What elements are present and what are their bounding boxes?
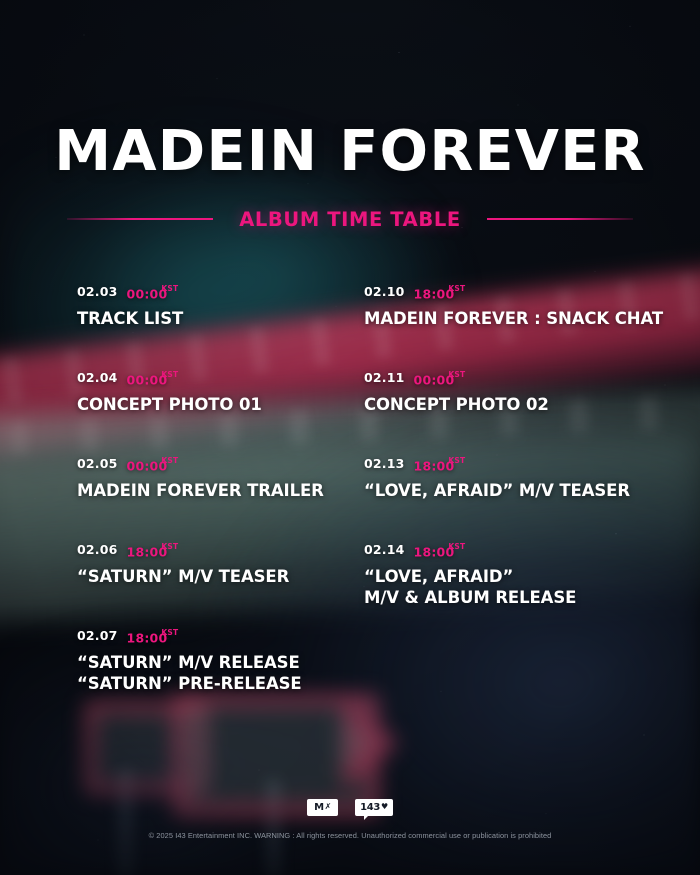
schedule-entry-title: “SATURN” M/V RELEASE xyxy=(77,653,377,673)
schedule-entry-time-group: 18:00KST xyxy=(127,630,179,646)
schedule-entry-time-group: 00:00KST xyxy=(127,458,179,474)
schedule-entry-meta: 02.0500:00KST xyxy=(77,458,377,474)
schedule-entry-timezone: KST xyxy=(161,542,178,551)
schedule-entry-meta: 02.1318:00KST xyxy=(364,458,664,474)
schedule-entry-date: 02.05 xyxy=(77,458,118,471)
schedule-entry-meta: 02.1418:00KST xyxy=(364,544,664,560)
schedule-entry: 02.1018:00KSTMADEIN FOREVER : SNACK CHAT xyxy=(364,286,664,330)
copyright-notice: © 2025 I43 Entertainment INC. WARNING : … xyxy=(0,831,700,840)
schedule-entry-timezone: KST xyxy=(161,628,178,637)
schedule-entry-meta: 02.1018:00KST xyxy=(364,286,664,302)
schedule-entry-date: 02.07 xyxy=(77,630,118,643)
143-logo: 143♥ xyxy=(355,799,393,816)
mx-logo: M✗ xyxy=(307,799,338,816)
schedule-entry: 02.0618:00KST“SATURN” M/V TEASER xyxy=(77,544,377,588)
schedule-entry-title: “LOVE, AFRAID” M/V TEASER xyxy=(364,481,664,501)
schedule-entry: 02.0718:00KST“SATURN” M/V RELEASE“SATURN… xyxy=(77,630,377,694)
schedule-entry: 02.1418:00KST“LOVE, AFRAID”M/V & ALBUM R… xyxy=(364,544,664,608)
subtitle-rule-left xyxy=(67,218,213,220)
schedule-entry-date: 02.10 xyxy=(364,286,405,299)
schedule-entry: 02.1100:00KSTCONCEPT PHOTO 02 xyxy=(364,372,664,416)
schedule-entry-timezone: KST xyxy=(448,456,465,465)
schedule-entry: 02.0500:00KSTMADEIN FOREVER TRAILER xyxy=(77,458,377,502)
schedule-entry-meta: 02.0718:00KST xyxy=(77,630,377,646)
schedule-entry-timezone: KST xyxy=(161,370,178,379)
schedule-entry: 02.0400:00KSTCONCEPT PHOTO 01 xyxy=(77,372,377,416)
schedule-entry-timezone: KST xyxy=(161,456,178,465)
schedule-entry-time-group: 00:00KST xyxy=(414,372,466,388)
schedule-entry-meta: 02.0300:00KST xyxy=(77,286,377,302)
schedule-entry-date: 02.14 xyxy=(364,544,405,557)
subtitle: ALBUM TIME TABLE xyxy=(213,208,487,231)
schedule-entry-time-group: 18:00KST xyxy=(414,544,466,560)
mx-logo-mark: ✗ xyxy=(325,803,331,811)
schedule-entry-time-group: 18:00KST xyxy=(414,458,466,474)
mx-logo-text: M xyxy=(314,803,323,813)
schedule-entry-date: 02.03 xyxy=(77,286,118,299)
schedule-entry-timezone: KST xyxy=(448,542,465,551)
schedule-entry-meta: 02.1100:00KST xyxy=(364,372,664,388)
schedule-entry-timezone: KST xyxy=(161,284,178,293)
heart-icon: ♥ xyxy=(381,803,388,811)
schedule-entry-date: 02.06 xyxy=(77,544,118,557)
schedule-entry: 02.1318:00KST“LOVE, AFRAID” M/V TEASER xyxy=(364,458,664,502)
subtitle-row: ALBUM TIME TABLE xyxy=(0,206,700,232)
schedule-entry-time-group: 18:00KST xyxy=(127,544,179,560)
schedule-entry-title: “SATURN” PRE-RELEASE xyxy=(77,674,377,694)
schedule-entry: 02.0300:00KSTTRACK LIST xyxy=(77,286,377,330)
schedule-entry-title: MADEIN FOREVER TRAILER xyxy=(77,481,377,501)
schedule-entry-title: TRACK LIST xyxy=(77,309,377,329)
album-timetable-poster: MADEIN FOREVER ALBUM TIME TABLE 02.0300:… xyxy=(0,0,700,875)
schedule-entry-date: 02.13 xyxy=(364,458,405,471)
schedule-entry-title: CONCEPT PHOTO 02 xyxy=(364,395,664,415)
schedule-entry-time-group: 00:00KST xyxy=(127,372,179,388)
page-title: MADEIN FOREVER xyxy=(0,124,700,180)
143-logo-text: 143 xyxy=(360,803,380,813)
schedule-entry-timezone: KST xyxy=(448,370,465,379)
schedule-entry-date: 02.04 xyxy=(77,372,118,385)
schedule-entry-meta: 02.0400:00KST xyxy=(77,372,377,388)
schedule-entry-time-group: 18:00KST xyxy=(414,286,466,302)
footer-logos: M✗ 143♥ xyxy=(0,799,700,816)
schedule-entry-time-group: 00:00KST xyxy=(127,286,179,302)
schedule-entry-timezone: KST xyxy=(448,284,465,293)
schedule-entry-title: “LOVE, AFRAID” xyxy=(364,567,664,587)
schedule-entry-title: CONCEPT PHOTO 01 xyxy=(77,395,377,415)
poster-content: MADEIN FOREVER ALBUM TIME TABLE 02.0300:… xyxy=(0,0,700,875)
schedule-grid: 02.0300:00KSTTRACK LIST02.0400:00KSTCONC… xyxy=(0,286,700,706)
schedule-entry-title: MADEIN FOREVER : SNACK CHAT xyxy=(364,309,664,329)
schedule-entry-title: M/V & ALBUM RELEASE xyxy=(364,588,664,608)
subtitle-rule-right xyxy=(487,218,633,220)
schedule-entry-date: 02.11 xyxy=(364,372,405,385)
schedule-entry-meta: 02.0618:00KST xyxy=(77,544,377,560)
schedule-entry-title: “SATURN” M/V TEASER xyxy=(77,567,377,587)
